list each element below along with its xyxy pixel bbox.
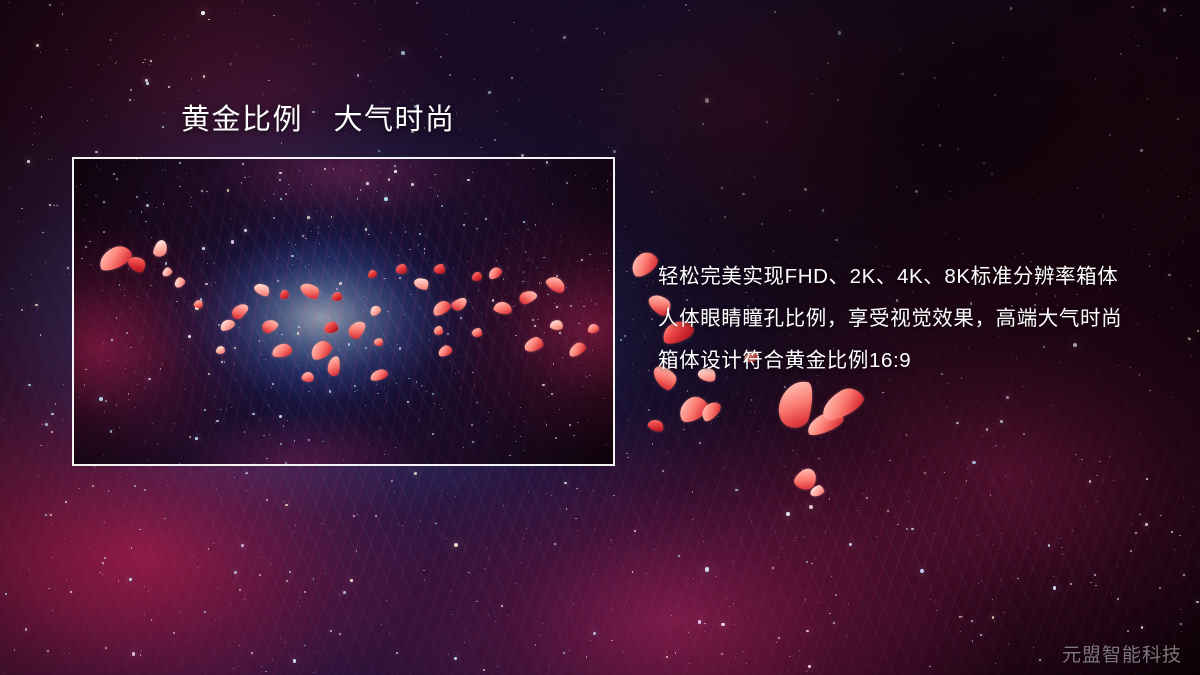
rose-petal [792,464,820,493]
body-line-1: 轻松完美实现FHD、2K、4K、8K标准分辨率箱体 [658,256,1168,298]
rose-petal [646,417,665,434]
panel-vignette [74,159,613,464]
body-text-block: 轻松完美实现FHD、2K、4K、8K标准分辨率箱体 人体眼睛瞳孔比例，享受视觉效… [658,256,1168,382]
rose-petal [698,399,724,424]
body-line-2: 人体眼睛瞳孔比例，享受视觉效果，高端大气时尚 [658,298,1168,340]
rose-petal [775,377,818,431]
rose-petal [675,392,712,426]
rose-petal [627,248,661,280]
slide-canvas: 黄金比例 大气时尚 轻松完美实现FHD、2K、4K、8K标准分辨率箱体 人体眼睛… [0,0,1200,675]
rose-petal [804,408,846,439]
body-line-3: 箱体设计符合黄金比例16:9 [658,340,1168,382]
rose-petal [809,484,826,498]
framed-image-panel [72,157,615,466]
page-title: 黄金比例 大气时尚 [181,102,456,138]
watermark-text: 元盟智能科技 [1062,640,1182,667]
rose-petal [817,383,867,426]
